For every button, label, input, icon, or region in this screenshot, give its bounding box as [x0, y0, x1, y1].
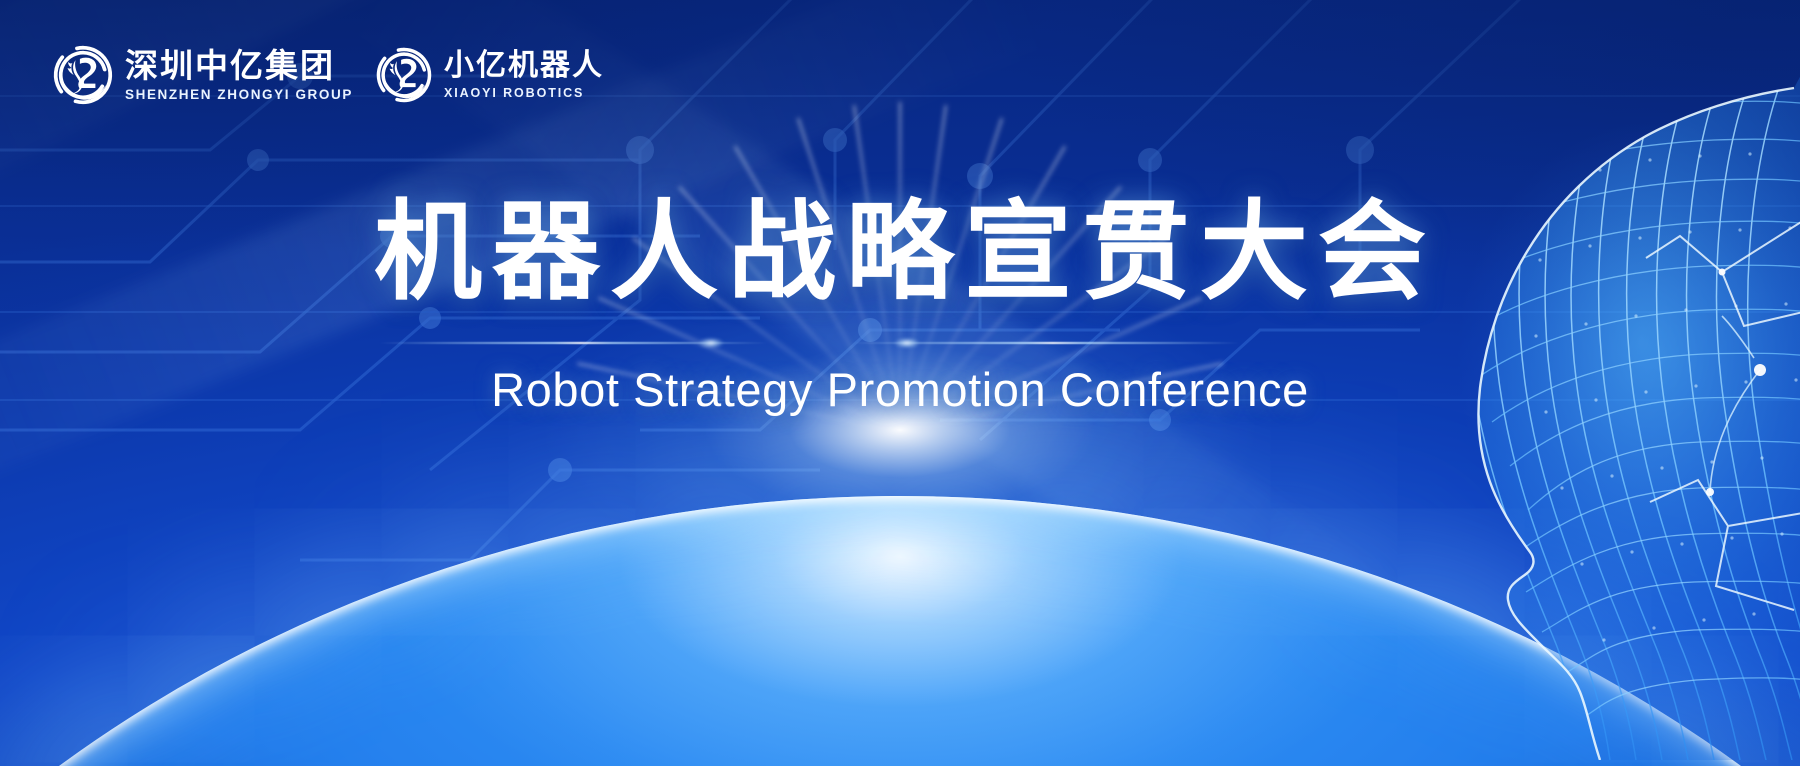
- headline-block: 机器人战略宣贯大会 Robot Strategy Promotion Confe…: [0, 196, 1800, 417]
- logo-xiaoyi[interactable]: 小亿机器人 XIAOYI ROBOTICS: [375, 46, 604, 104]
- light-streak-right: [850, 342, 1240, 344]
- zhongyi-en-name: SHENZHEN ZHONGYI GROUP: [125, 88, 353, 102]
- light-streak-left: [378, 342, 768, 344]
- zhongyi-emblem-icon: [52, 44, 114, 106]
- logo-zhongyi[interactable]: 深圳中亿集团 SHENZHEN ZHONGYI GROUP: [52, 44, 353, 106]
- page-subtitle: Robot Strategy Promotion Conference: [0, 362, 1800, 417]
- zhongyi-cn-name: 深圳中亿集团: [125, 49, 353, 82]
- xiaoyi-en-name: XIAOYI ROBOTICS: [444, 87, 604, 100]
- logo-group: 深圳中亿集团 SHENZHEN ZHONGYI GROUP 小亿机器人 XIAO…: [52, 44, 604, 106]
- xiaoyi-cn-name: 小亿机器人: [444, 51, 604, 81]
- separator-row: [0, 326, 1800, 360]
- conference-banner: 深圳中亿集团 SHENZHEN ZHONGYI GROUP 小亿机器人 XIAO…: [0, 0, 1800, 766]
- xiaoyi-emblem-icon: [375, 46, 433, 104]
- page-title: 机器人战略宣贯大会: [0, 196, 1800, 310]
